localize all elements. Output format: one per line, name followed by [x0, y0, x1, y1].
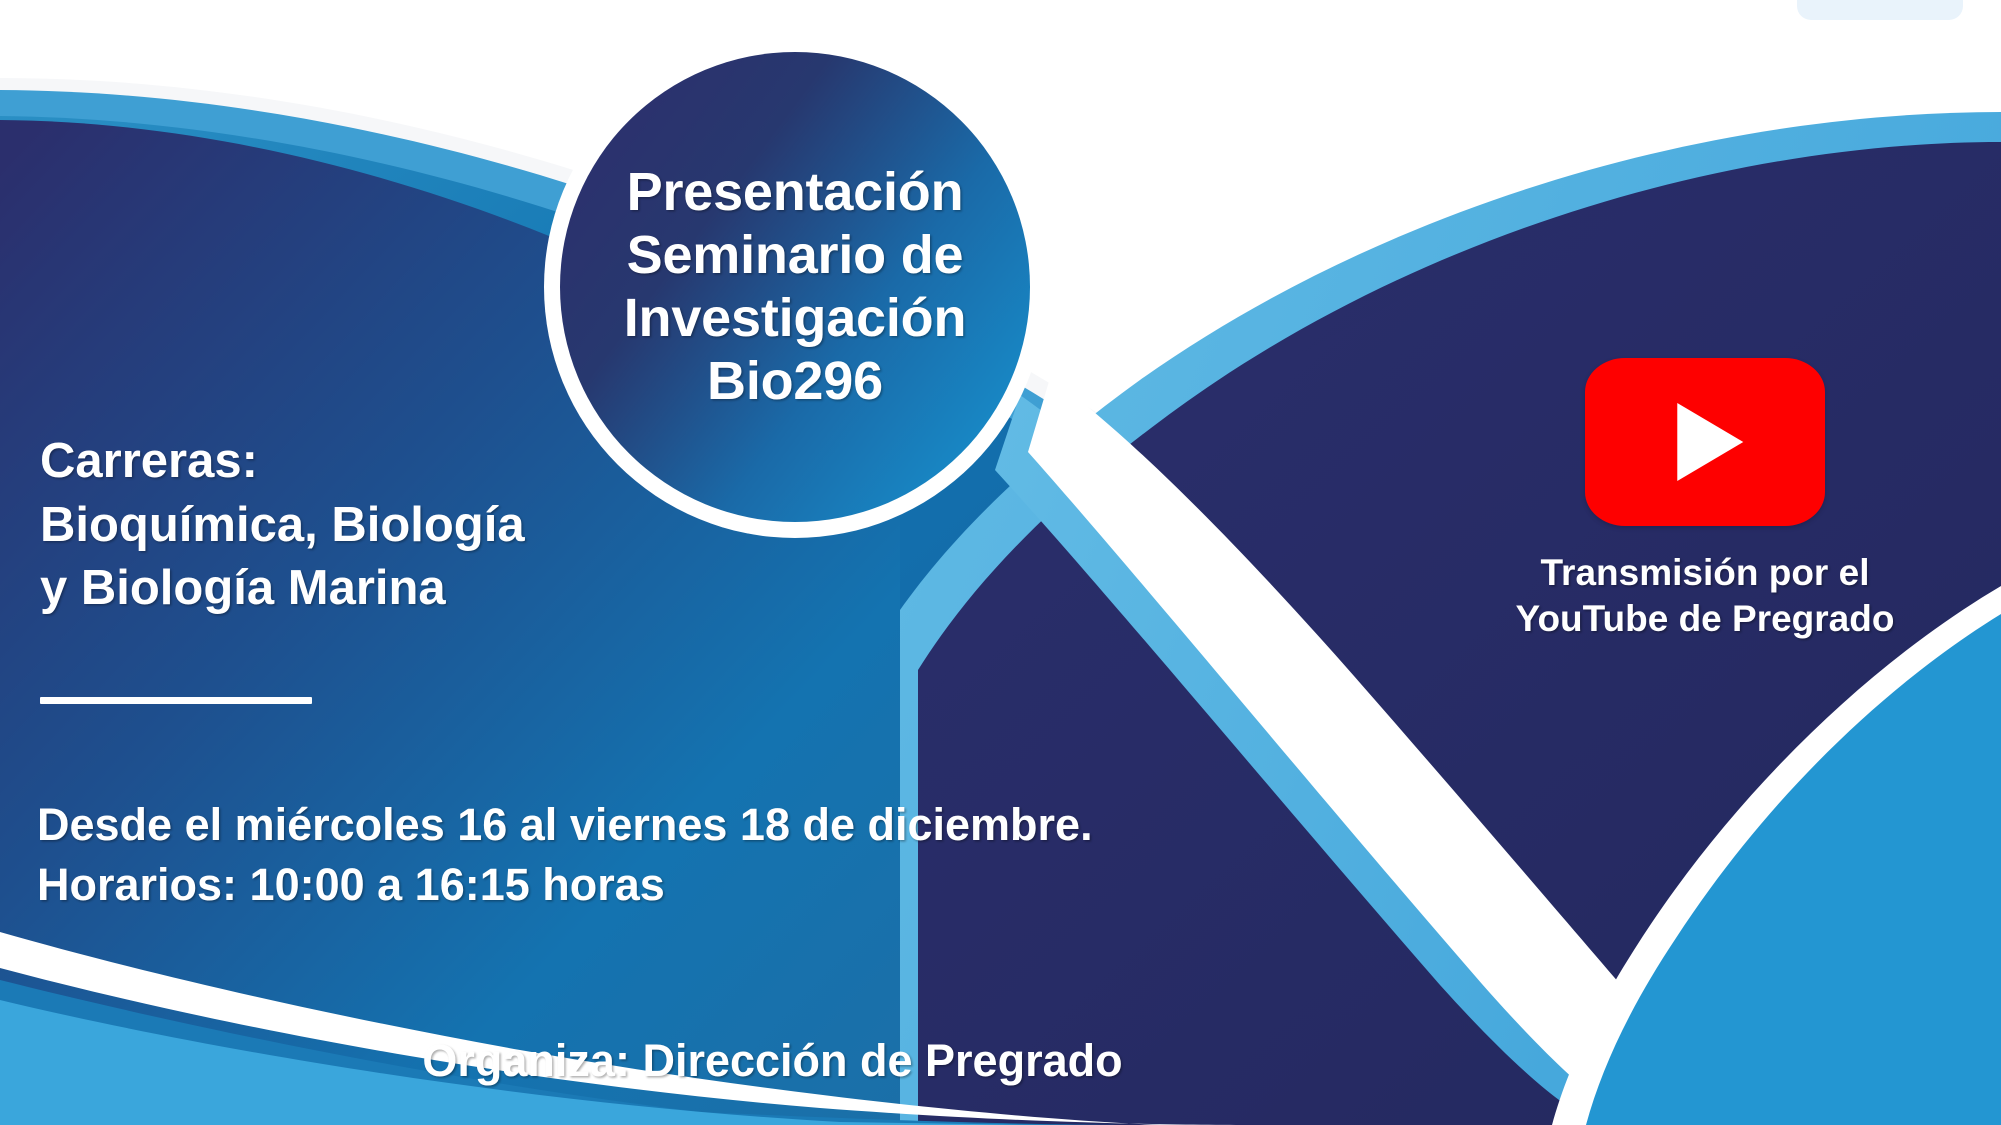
schedule-hours: Horarios: 10:00 a 16:15 horas [37, 855, 1237, 915]
organizer-text: Organiza: Dirección de Pregrado [422, 1035, 1122, 1087]
circle-title-line-2: Seminario de [627, 224, 964, 287]
broadcast-caption-line-1: Transmisión por el [1480, 550, 1930, 596]
play-triangle-icon [1677, 403, 1743, 481]
schedule-dates: Desde el miércoles 16 al viernes 18 de d… [37, 795, 1237, 855]
content-layer: Presentación Seminario de Investigación … [0, 0, 2001, 1125]
broadcast-caption: Transmisión por el YouTube de Pregrado [1480, 550, 1930, 642]
poster-canvas: Presentación Seminario de Investigación … [0, 0, 2001, 1125]
careers-line-1: Bioquímica, Biología [40, 494, 760, 558]
careers-line-2: y Biología Marina [40, 557, 760, 621]
organizer-line: Organiza: Dirección de Pregrado [0, 1035, 2001, 1087]
circle-title-line-3: Investigación [624, 287, 967, 350]
circle-title-line-4: Bio296 [707, 350, 883, 413]
circle-title-line-1: Presentación [627, 161, 964, 224]
schedule-block: Desde el miércoles 16 al viernes 18 de d… [37, 795, 1237, 915]
careers-block: Carreras: Bioquímica, Biología y Biologí… [40, 430, 760, 621]
careers-label: Carreras: [40, 430, 760, 494]
broadcast-caption-line-2: YouTube de Pregrado [1480, 596, 1930, 642]
broadcast-block: Transmisión por el YouTube de Pregrado [1480, 358, 1930, 642]
section-divider [40, 697, 312, 704]
youtube-play-icon[interactable] [1585, 358, 1825, 526]
